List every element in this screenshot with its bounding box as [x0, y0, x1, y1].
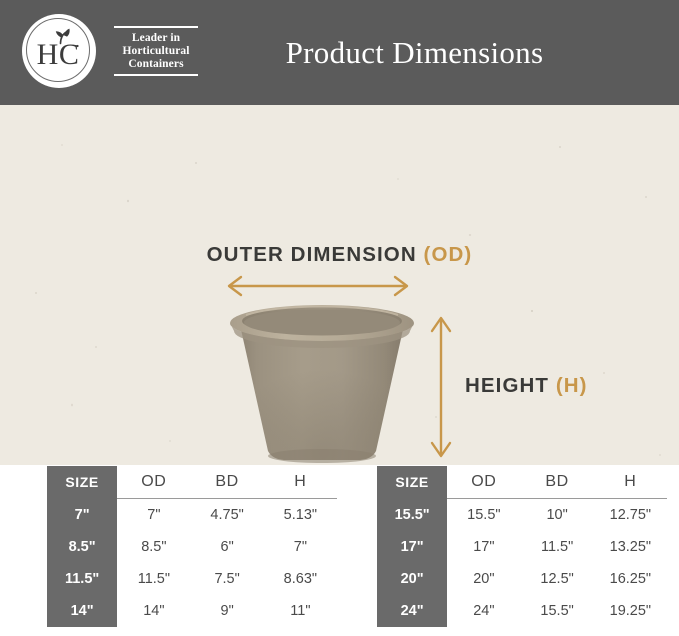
- cell-h: 5.13": [264, 499, 337, 532]
- label-height-text: HEIGHT: [465, 374, 549, 397]
- planter-pot-illustration: [224, 301, 420, 465]
- cell-h: 13.25": [594, 531, 667, 563]
- table-row: 8.5" 8.5" 6" 7": [47, 531, 337, 563]
- cell-size: 24": [377, 595, 447, 627]
- svg-text:HC: HC: [37, 38, 80, 71]
- label-outer-dimension: OUTER DIMENSION (OD): [0, 243, 679, 267]
- table-header-row: SIZE OD BD H: [377, 466, 667, 499]
- hc-logo: HC: [22, 14, 96, 88]
- cell-od: 15.5": [447, 499, 520, 532]
- label-height: HEIGHT (H): [465, 374, 588, 398]
- page-header: HC Leader in Horticultural Containers Pr…: [0, 0, 679, 105]
- cell-size: 8.5": [47, 531, 117, 563]
- cell-h: 12.75": [594, 499, 667, 532]
- dimensions-table-small: SIZE OD BD H 7" 7" 4.75" 5.13" 8.5" 8.5"…: [47, 466, 337, 627]
- brand-lockup: HC Leader in Horticultural Containers: [22, 14, 202, 88]
- cell-bd: 10": [520, 499, 593, 532]
- cell-size: 11.5": [47, 563, 117, 595]
- diagram-panel: OUTER DIMENSION (OD) HEIGHT (H) BASE DIM…: [0, 105, 679, 465]
- column-header-bd: BD: [190, 466, 263, 499]
- column-header-h: H: [264, 466, 337, 499]
- cell-bd: 4.75": [190, 499, 263, 532]
- cell-bd: 15.5": [520, 595, 593, 627]
- cell-size: 7": [47, 499, 117, 532]
- logo-mark: HC: [27, 19, 91, 83]
- column-header-size: SIZE: [47, 466, 117, 499]
- tagline-rule-bottom: [114, 74, 198, 75]
- table-row: 15.5" 15.5" 10" 12.75": [377, 499, 667, 532]
- table-row: 11.5" 11.5" 7.5" 8.63": [47, 563, 337, 595]
- table-row: 24" 24" 15.5" 19.25": [377, 595, 667, 627]
- cell-od: 17": [447, 531, 520, 563]
- label-outer-dimension-text: OUTER DIMENSION: [207, 243, 417, 266]
- tagline-line-3: Containers: [114, 58, 198, 71]
- logo-monogram: HC: [27, 19, 91, 83]
- column-header-h: H: [594, 466, 667, 499]
- cell-h: 7": [264, 531, 337, 563]
- tagline-line-1: Leader in: [114, 32, 198, 45]
- dimensions-table-large: SIZE OD BD H 15.5" 15.5" 10" 12.75" 17" …: [377, 466, 667, 627]
- cell-h: 16.25": [594, 563, 667, 595]
- dimensions-tables: SIZE OD BD H 7" 7" 4.75" 5.13" 8.5" 8.5"…: [0, 466, 679, 636]
- height-arrow: [428, 311, 454, 463]
- table-row: 17" 17" 11.5" 13.25": [377, 531, 667, 563]
- cell-size: 14": [47, 595, 117, 627]
- cell-h: 19.25": [594, 595, 667, 627]
- tagline-lines: Leader in Horticultural Containers: [114, 28, 198, 75]
- column-header-size: SIZE: [377, 466, 447, 499]
- cell-od: 24": [447, 595, 520, 627]
- cell-bd: 11.5": [520, 531, 593, 563]
- cell-size: 20": [377, 563, 447, 595]
- cell-size: 15.5": [377, 499, 447, 532]
- cell-bd: 9": [190, 595, 263, 627]
- column-header-od: OD: [447, 466, 520, 499]
- column-header-bd: BD: [520, 466, 593, 499]
- cell-od: 20": [447, 563, 520, 595]
- cell-od: 8.5": [117, 531, 190, 563]
- table-row: 20" 20" 12.5" 16.25": [377, 563, 667, 595]
- cell-bd: 12.5": [520, 563, 593, 595]
- table-header-row: SIZE OD BD H: [47, 466, 337, 499]
- column-header-od: OD: [117, 466, 190, 499]
- table-row: 14" 14" 9" 11": [47, 595, 337, 627]
- cell-bd: 7.5": [190, 563, 263, 595]
- cell-od: 7": [117, 499, 190, 532]
- tagline-line-2: Horticultural: [114, 45, 198, 58]
- cell-size: 17": [377, 531, 447, 563]
- outer-dimension-arrow: [222, 273, 414, 299]
- table-row: 7" 7" 4.75" 5.13": [47, 499, 337, 532]
- cell-h: 11": [264, 595, 337, 627]
- label-outer-dimension-abbr: (OD): [424, 243, 473, 266]
- cell-od: 11.5": [117, 563, 190, 595]
- cell-bd: 6": [190, 531, 263, 563]
- label-height-abbr: (H): [556, 374, 588, 397]
- brand-tagline: Leader in Horticultural Containers: [110, 26, 202, 75]
- cell-h: 8.63": [264, 563, 337, 595]
- cell-od: 14": [117, 595, 190, 627]
